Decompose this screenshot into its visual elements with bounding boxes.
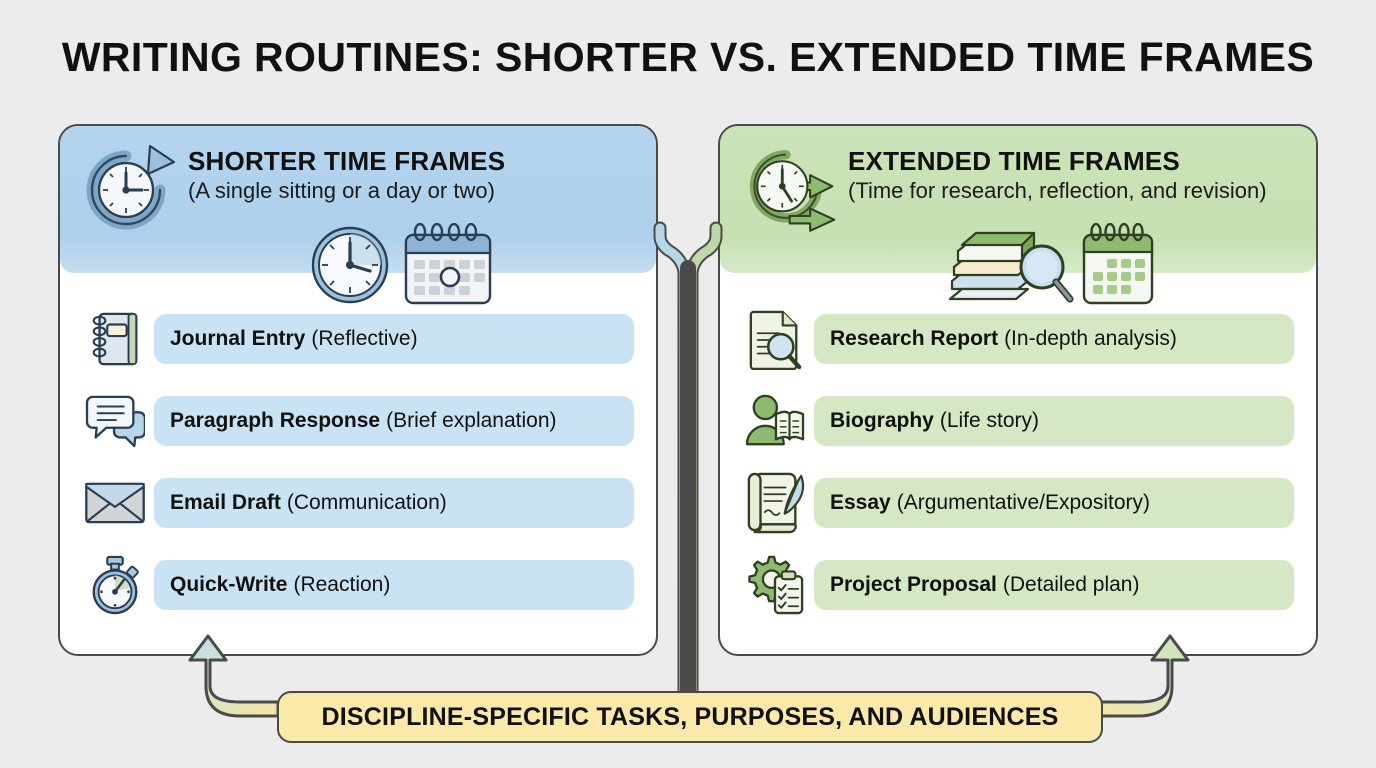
item-name: Biography	[830, 409, 934, 433]
list-item[interactable]: Email Draft (Communication)	[76, 470, 634, 536]
notebook-icon	[76, 308, 154, 370]
list-item-pill[interactable]: Project Proposal (Detailed plan)	[814, 560, 1294, 610]
list-item[interactable]: Biography (Life story)	[736, 388, 1294, 454]
list-item-pill[interactable]: Biography (Life story)	[814, 396, 1294, 446]
list-item[interactable]: Paragraph Response (Brief explanation)	[76, 388, 634, 454]
shorter-items-list: Journal Entry (Reflective) Paragraph Res	[60, 306, 656, 634]
list-item[interactable]: Essay (Argumentative/Expository)	[736, 470, 1294, 536]
list-item[interactable]: Quick-Write (Reaction)	[76, 552, 634, 618]
extended-panel-subtitle: (Time for research, reflection, and revi…	[848, 178, 1316, 204]
books-magnifier-calendar-deco	[938, 223, 1158, 307]
clock-arrow-icon	[74, 140, 178, 240]
item-detail: (Detailed plan)	[1003, 573, 1140, 597]
item-detail: (Argumentative/Expository)	[897, 491, 1150, 515]
list-item-pill[interactable]: Research Report (In-depth analysis)	[814, 314, 1294, 364]
list-item[interactable]: Project Proposal (Detailed plan)	[736, 552, 1294, 618]
list-item[interactable]: Journal Entry (Reflective)	[76, 306, 634, 372]
item-detail: (Reflective)	[311, 327, 417, 351]
list-item-pill[interactable]: Essay (Argumentative/Expository)	[814, 478, 1294, 528]
item-detail: (Reaction)	[293, 573, 390, 597]
person-book-icon	[736, 390, 814, 452]
clock-calendar-deco	[308, 223, 498, 307]
list-item-pill[interactable]: Quick-Write (Reaction)	[154, 560, 634, 610]
extended-items-list: Research Report (In-depth analysis)	[720, 306, 1316, 634]
list-item-pill[interactable]: Paragraph Response (Brief explanation)	[154, 396, 634, 446]
item-name: Essay	[830, 491, 891, 515]
list-item-pill[interactable]: Journal Entry (Reflective)	[154, 314, 634, 364]
extended-panel-title: EXTENDED TIME FRAMES	[848, 148, 1316, 175]
speech-bubble-icon	[76, 390, 154, 452]
document-magnifier-icon	[736, 308, 814, 370]
item-detail: (Communication)	[287, 491, 447, 515]
shorter-panel-title: SHORTER TIME FRAMES	[188, 148, 656, 175]
item-name: Paragraph Response	[170, 409, 380, 433]
bottom-banner[interactable]: DISCIPLINE-SPECIFIC TASKS, PURPOSES, AND…	[277, 691, 1103, 743]
gear-clipboard-icon	[736, 554, 814, 616]
list-item[interactable]: Research Report (In-depth analysis)	[736, 306, 1294, 372]
envelope-icon	[76, 472, 154, 534]
stopwatch-icon	[76, 554, 154, 616]
scroll-quill-icon	[736, 472, 814, 534]
clock-double-arrow-icon	[734, 140, 838, 240]
extended-panel-header: EXTENDED TIME FRAMES (Time for research,…	[720, 126, 1316, 273]
shorter-panel-header: SHORTER TIME FRAMES (A single sitting or…	[60, 126, 656, 273]
shorter-time-frames-panel: SHORTER TIME FRAMES (A single sitting or…	[58, 124, 658, 656]
bottom-banner-label: DISCIPLINE-SPECIFIC TASKS, PURPOSES, AND…	[322, 703, 1059, 732]
item-detail: (Brief explanation)	[386, 409, 556, 433]
page-title: WRITING ROUTINES: SHORTER VS. EXTENDED T…	[0, 34, 1376, 81]
list-item-pill[interactable]: Email Draft (Communication)	[154, 478, 634, 528]
item-detail: (Life story)	[940, 409, 1039, 433]
item-detail: (In-depth analysis)	[1004, 327, 1177, 351]
item-name: Research Report	[830, 327, 998, 351]
item-name: Quick-Write	[170, 573, 287, 597]
extended-time-frames-panel: EXTENDED TIME FRAMES (Time for research,…	[718, 124, 1318, 656]
item-name: Journal Entry	[170, 327, 305, 351]
item-name: Email Draft	[170, 491, 281, 515]
item-name: Project Proposal	[830, 573, 997, 597]
shorter-panel-subtitle: (A single sitting or a day or two)	[188, 178, 656, 204]
infographic-canvas: WRITING ROUTINES: SHORTER VS. EXTENDED T…	[0, 0, 1376, 768]
